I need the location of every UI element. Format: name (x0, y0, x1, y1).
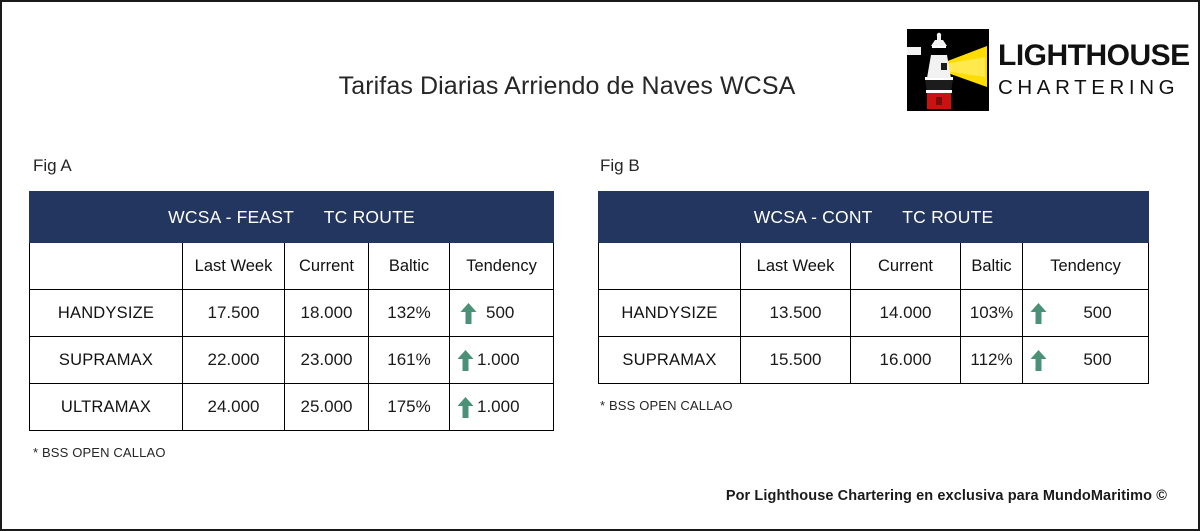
credit-line: Por Lighthouse Chartering en exclusiva p… (726, 488, 1167, 504)
lighthouse-icon (907, 29, 989, 111)
table-a-row-1-last-week: 22.000 (183, 337, 285, 384)
table-b-row-0-tendency-value: 500 (1047, 303, 1148, 323)
table-a-col-tendency: Tendency (450, 243, 554, 290)
table-row: ULTRAMAX 24.000 25.000 175% 1.000 (30, 384, 554, 431)
figure-a-note: * BSS OPEN CALLAO (33, 445, 166, 460)
table-b-row-1-tendency-value: 500 (1047, 350, 1148, 370)
table-a-col-baltic: Baltic (369, 243, 450, 290)
table-a-row-0-name: HANDYSIZE (30, 290, 183, 337)
arrow-up-icon (1030, 302, 1047, 325)
table-a-row-2-name: ULTRAMAX (30, 384, 183, 431)
table-b-row-1-baltic: 112% (961, 337, 1023, 384)
logo-line-2: CHARTERING (998, 78, 1190, 99)
table-a-row-0-tendency: 500 (450, 290, 554, 337)
table-a-row-2-current: 25.000 (285, 384, 369, 431)
table-b-row-0-last-week: 13.500 (741, 290, 851, 337)
table-row: HANDYSIZE 13.500 14.000 103% 500 (599, 290, 1149, 337)
table-wcsa-feast: WCSA - FEAST TC ROUTE Last Week Current … (29, 191, 554, 431)
table-b-row-0-tendency: 500 (1023, 290, 1149, 337)
table-b-col-baltic: Baltic (961, 243, 1023, 290)
table-a-row-0-last-week: 17.500 (183, 290, 285, 337)
table-b-title-row: WCSA - CONT TC ROUTE (599, 192, 1149, 243)
table-a-header-row: Last Week Current Baltic Tendency (30, 243, 554, 290)
table-b-row-1-tendency: 500 (1023, 337, 1149, 384)
table-a-row-1-tendency: 1.000 (450, 337, 554, 384)
figure-b-label: Fig B (600, 156, 640, 176)
arrow-up-icon (460, 302, 477, 325)
figure-b-note: * BSS OPEN CALLAO (600, 398, 733, 413)
table-a-title: WCSA - FEAST TC ROUTE (30, 192, 554, 243)
table-a-row-2-baltic: 175% (369, 384, 450, 431)
table-row: HANDYSIZE 17.500 18.000 132% 500 (30, 290, 554, 337)
table-a-row-1-current: 23.000 (285, 337, 369, 384)
table-wcsa-cont: WCSA - CONT TC ROUTE Last Week Current B… (598, 191, 1149, 384)
arrow-up-icon (457, 396, 474, 419)
table-a-row-2-tendency: 1.000 (450, 384, 554, 431)
figure-a-label: Fig A (33, 156, 72, 176)
table-a-col-blank (30, 243, 183, 290)
table-b-row-1-current: 16.000 (851, 337, 961, 384)
table-a-row-0-tendency-value: 500 (486, 303, 514, 323)
table-b-row-1-name: SUPRAMAX (599, 337, 741, 384)
table-b-col-blank (599, 243, 741, 290)
table-a-row-2-tendency-value: 1.000 (477, 397, 520, 417)
table-a-col-current: Current (285, 243, 369, 290)
table-a-row-0-baltic: 132% (369, 290, 450, 337)
table-b-col-last-week: Last Week (741, 243, 851, 290)
table-row: SUPRAMAX 22.000 23.000 161% 1.000 (30, 337, 554, 384)
table-a-row-1-baltic: 161% (369, 337, 450, 384)
logo-line-1: LIGHTHOUSE (998, 41, 1190, 71)
table-b-col-current: Current (851, 243, 961, 290)
table-b-col-tendency: Tendency (1023, 243, 1149, 290)
table-b-row-1-last-week: 15.500 (741, 337, 851, 384)
table-a-row-2-last-week: 24.000 (183, 384, 285, 431)
table-a-row-1-name: SUPRAMAX (30, 337, 183, 384)
table-b-row-0-current: 14.000 (851, 290, 961, 337)
table-b-header-row: Last Week Current Baltic Tendency (599, 243, 1149, 290)
logo-wordmark: LIGHTHOUSE CHARTERING (998, 41, 1190, 99)
slide-canvas: Tarifas Diarias Arriendo de Naves WCSA (0, 0, 1200, 531)
table-b-row-0-name: HANDYSIZE (599, 290, 741, 337)
table-a-row-0-current: 18.000 (285, 290, 369, 337)
table-row: SUPRAMAX 15.500 16.000 112% 500 (599, 337, 1149, 384)
lighthouse-chartering-logo: LIGHTHOUSE CHARTERING (907, 29, 1169, 111)
table-a-col-last-week: Last Week (183, 243, 285, 290)
table-a-title-row: WCSA - FEAST TC ROUTE (30, 192, 554, 243)
table-b-row-0-baltic: 103% (961, 290, 1023, 337)
table-b-title: WCSA - CONT TC ROUTE (599, 192, 1149, 243)
arrow-up-icon (457, 349, 474, 372)
table-a-row-1-tendency-value: 1.000 (477, 350, 520, 370)
arrow-up-icon (1030, 349, 1047, 372)
